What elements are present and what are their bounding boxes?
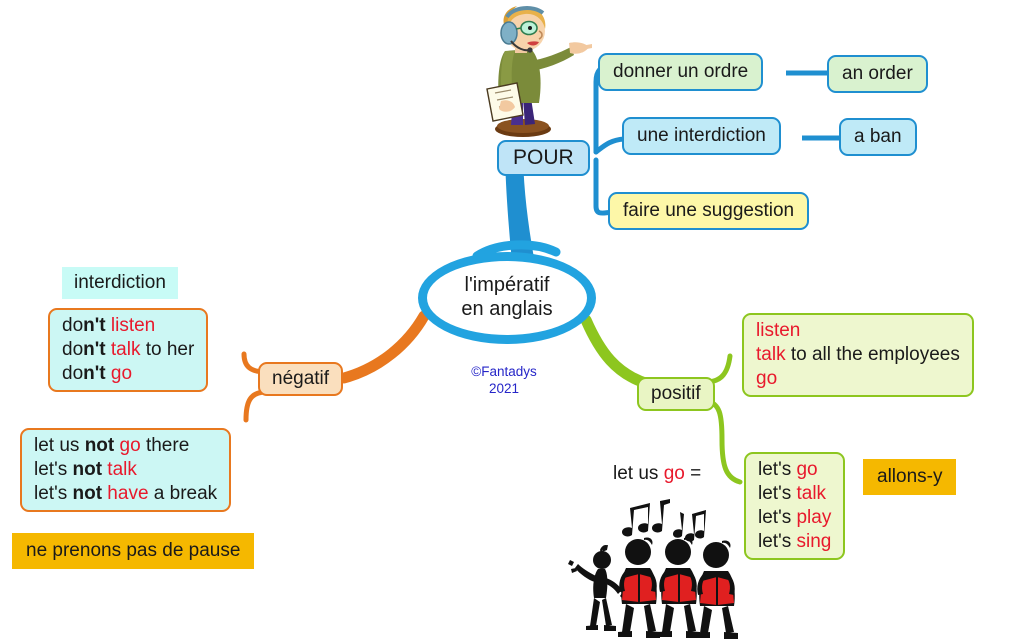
node-une-interdiction[interactable]: une interdiction xyxy=(622,117,781,155)
node-positif-label: positif xyxy=(651,382,701,406)
node-positif[interactable]: positif xyxy=(637,377,715,411)
list-item: let's not talk xyxy=(34,458,137,482)
node-faire-une-suggestion[interactable]: faire une suggestion xyxy=(608,192,809,230)
label-interdiction: interdiction xyxy=(62,267,178,299)
center-node[interactable]: l'impératifen anglais xyxy=(418,252,596,344)
equation-text: let us go = xyxy=(613,462,701,486)
node-ne-prenons-pas-de-pause: ne prenons pas de pause xyxy=(12,533,254,569)
node-negatif[interactable]: négatif xyxy=(258,362,343,396)
positif-to-lets-connector xyxy=(706,400,740,482)
node-a-ban-label: a ban xyxy=(854,125,902,149)
node-allons-y: allons-y xyxy=(863,459,956,495)
list-item: go xyxy=(756,367,777,391)
list-item: let's talk xyxy=(758,482,826,506)
node-pour-label: POUR xyxy=(513,145,574,171)
list-item: don't go xyxy=(62,362,132,386)
choir-singers-icon xyxy=(552,498,742,643)
node-a-ban[interactable]: a ban xyxy=(839,118,917,156)
negatif-to-letus-connector xyxy=(246,392,266,420)
mindmap-canvas: l'impératifen anglais ©Fantadys 2021 POU… xyxy=(0,0,1024,643)
list-item: let's go xyxy=(758,458,818,482)
node-positive-examples[interactable]: listen talk to all the employees go xyxy=(742,313,974,397)
node-lets-examples[interactable]: let's go let's talk let's play let's sin… xyxy=(744,452,845,560)
list-item: let's sing xyxy=(758,530,831,554)
list-item: talk to all the employees xyxy=(756,343,960,367)
label-interdiction-text: interdiction xyxy=(74,271,166,295)
node-letus-not-examples[interactable]: let us not go there let's not talk let's… xyxy=(20,428,231,512)
node-allons-y-label: allons-y xyxy=(877,465,942,489)
list-item: let's play xyxy=(758,506,831,530)
node-an-order[interactable]: an order xyxy=(827,55,928,93)
node-une-interdiction-label: une interdiction xyxy=(637,124,766,148)
node-dont-examples[interactable]: don't listen don't talk to her don't go xyxy=(48,308,208,392)
node-donner-un-ordre[interactable]: donner un ordre xyxy=(598,53,763,91)
list-item: let us not go there xyxy=(34,434,189,458)
center-node-label: l'impératifen anglais xyxy=(461,274,552,321)
node-an-order-label: an order xyxy=(842,62,913,86)
node-negatif-label: négatif xyxy=(272,367,329,391)
label-let-us-go-equation: let us go = xyxy=(613,462,701,486)
attribution-text: ©Fantadys 2021 xyxy=(444,364,564,398)
list-item: don't listen xyxy=(62,314,155,338)
node-donner-label: donner un ordre xyxy=(613,60,748,84)
node-pour[interactable]: POUR xyxy=(497,140,590,176)
node-suggestion-label: faire une suggestion xyxy=(623,199,794,223)
node-ne-prenons-label: ne prenons pas de pause xyxy=(26,539,240,563)
list-item: let's not have a break xyxy=(34,482,217,506)
list-item: don't talk to her xyxy=(62,338,194,362)
green-branch xyxy=(586,320,648,384)
orange-branch xyxy=(344,316,424,378)
pour-to-interdiction-connector xyxy=(596,139,624,152)
pointing-teacher-icon xyxy=(473,3,593,143)
list-item: listen xyxy=(756,319,800,343)
